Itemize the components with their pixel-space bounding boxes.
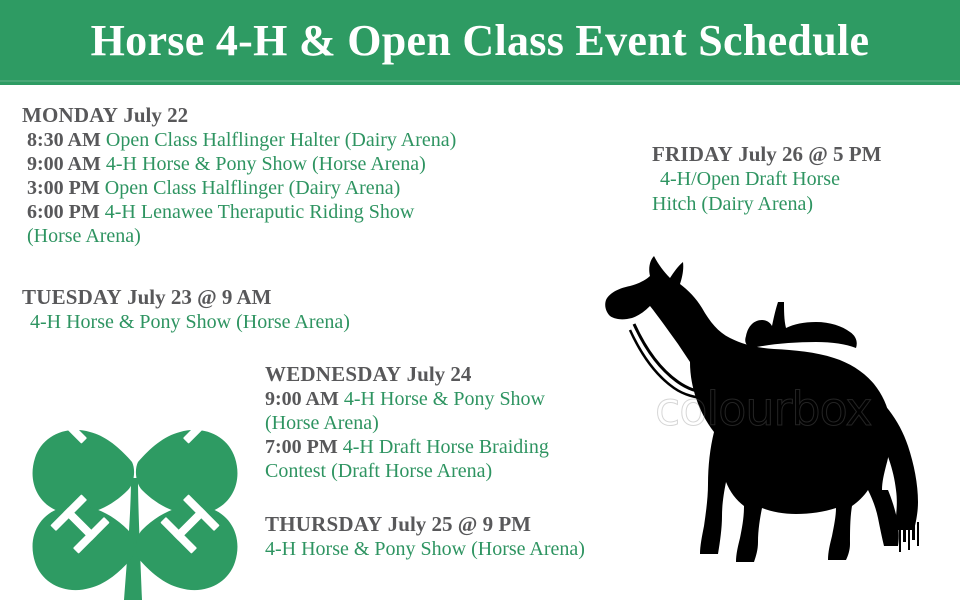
event-row: 3:00 PM Open Class Halflinger (Dairy Are… xyxy=(22,176,456,200)
page-title: Horse 4-H & Open Class Event Schedule xyxy=(0,14,960,68)
event-description: (Horse Arena) xyxy=(265,412,379,434)
schedule-block-monday: MONDAY July 22 8:30 AM Open Class Halfli… xyxy=(22,103,456,248)
event-row: 6:00 PM 4-H Lenawee Theraputic Riding Sh… xyxy=(22,200,456,224)
event-description: 4-H/Open Draft Horse xyxy=(660,168,840,190)
event-description: 4-H Draft Horse Braiding xyxy=(343,436,549,458)
day-name-wednesday: WEDNESDAY xyxy=(265,362,401,386)
event-schedule-poster: Horse 4-H & Open Class Event Schedule MO… xyxy=(0,0,960,600)
day-heading-wednesday: WEDNESDAY July 24 xyxy=(265,362,549,387)
event-row: (Horse Arena) xyxy=(265,411,549,435)
event-time: 8:30 AM xyxy=(27,129,101,151)
day-date-wednesday: July 24 xyxy=(407,362,472,386)
event-row: 8:30 AM Open Class Halflinger Halter (Da… xyxy=(22,128,456,152)
day-name-monday: MONDAY xyxy=(22,103,118,127)
event-row: 4-H Horse & Pony Show (Horse Arena) xyxy=(22,310,350,334)
event-description: 4-H Horse & Pony Show (Horse Arena) xyxy=(265,538,585,560)
event-time: 7:00 PM xyxy=(265,436,338,458)
event-description: 4-H Horse & Pony Show xyxy=(344,388,545,410)
schedule-block-wednesday: WEDNESDAY July 24 9:00 AM 4-H Horse & Po… xyxy=(265,362,549,483)
day-date-tuesday: July 23 @ 9 AM xyxy=(127,285,271,309)
event-description: Contest (Draft Horse Arena) xyxy=(265,460,492,482)
day-name-tuesday: TUESDAY xyxy=(22,285,122,309)
day-date-monday: July 22 xyxy=(123,103,188,127)
event-description: (Horse Arena) xyxy=(27,225,141,247)
event-row: 4-H Horse & Pony Show (Horse Arena) xyxy=(265,537,585,561)
day-heading-tuesday: TUESDAY July 23 @ 9 AM xyxy=(22,285,350,310)
four-h-clover-icon xyxy=(28,358,242,600)
header-banner: Horse 4-H & Open Class Event Schedule xyxy=(0,0,960,85)
day-date-thursday: July 25 @ 9 PM xyxy=(388,512,531,536)
horse-silhouette-icon xyxy=(588,250,960,580)
day-name-friday: FRIDAY xyxy=(652,142,733,166)
schedule-block-tuesday: TUESDAY July 23 @ 9 AM 4-H Horse & Pony … xyxy=(22,285,350,334)
day-name-thursday: THURSDAY xyxy=(265,512,383,536)
day-date-friday: July 26 @ 5 PM xyxy=(738,142,881,166)
event-description: Open Class Halflinger (Dairy Arena) xyxy=(105,177,400,199)
day-heading-friday: FRIDAY July 26 @ 5 PM xyxy=(652,142,881,167)
event-row: Contest (Draft Horse Arena) xyxy=(265,459,549,483)
event-description: Hitch (Dairy Arena) xyxy=(652,193,813,215)
event-row: 4-H/Open Draft Horse xyxy=(652,167,881,192)
event-row: Hitch (Dairy Arena) xyxy=(652,192,881,217)
day-heading-monday: MONDAY July 22 xyxy=(22,103,456,128)
event-description: 4-H Horse & Pony Show (Horse Arena) xyxy=(106,153,426,175)
event-description: 4-H Horse & Pony Show (Horse Arena) xyxy=(30,311,350,333)
event-row: (Horse Arena) xyxy=(22,224,456,248)
event-description: Open Class Halflinger Halter (Dairy Aren… xyxy=(106,129,456,151)
event-time: 3:00 PM xyxy=(27,177,100,199)
schedule-block-friday: FRIDAY July 26 @ 5 PM 4-H/Open Draft Hor… xyxy=(652,142,881,217)
event-row: 7:00 PM 4-H Draft Horse Braiding xyxy=(265,435,549,459)
event-description: 4-H Lenawee Theraputic Riding Show xyxy=(105,201,415,223)
event-row: 9:00 AM 4-H Horse & Pony Show (Horse Are… xyxy=(22,152,456,176)
event-time: 6:00 PM xyxy=(27,201,100,223)
day-heading-thursday: THURSDAY July 25 @ 9 PM xyxy=(265,512,585,537)
schedule-block-thursday: THURSDAY July 25 @ 9 PM 4-H Horse & Pony… xyxy=(265,512,585,561)
event-time: 9:00 AM xyxy=(27,153,101,175)
event-time: 9:00 AM xyxy=(265,388,339,410)
event-row: 9:00 AM 4-H Horse & Pony Show xyxy=(265,387,549,411)
